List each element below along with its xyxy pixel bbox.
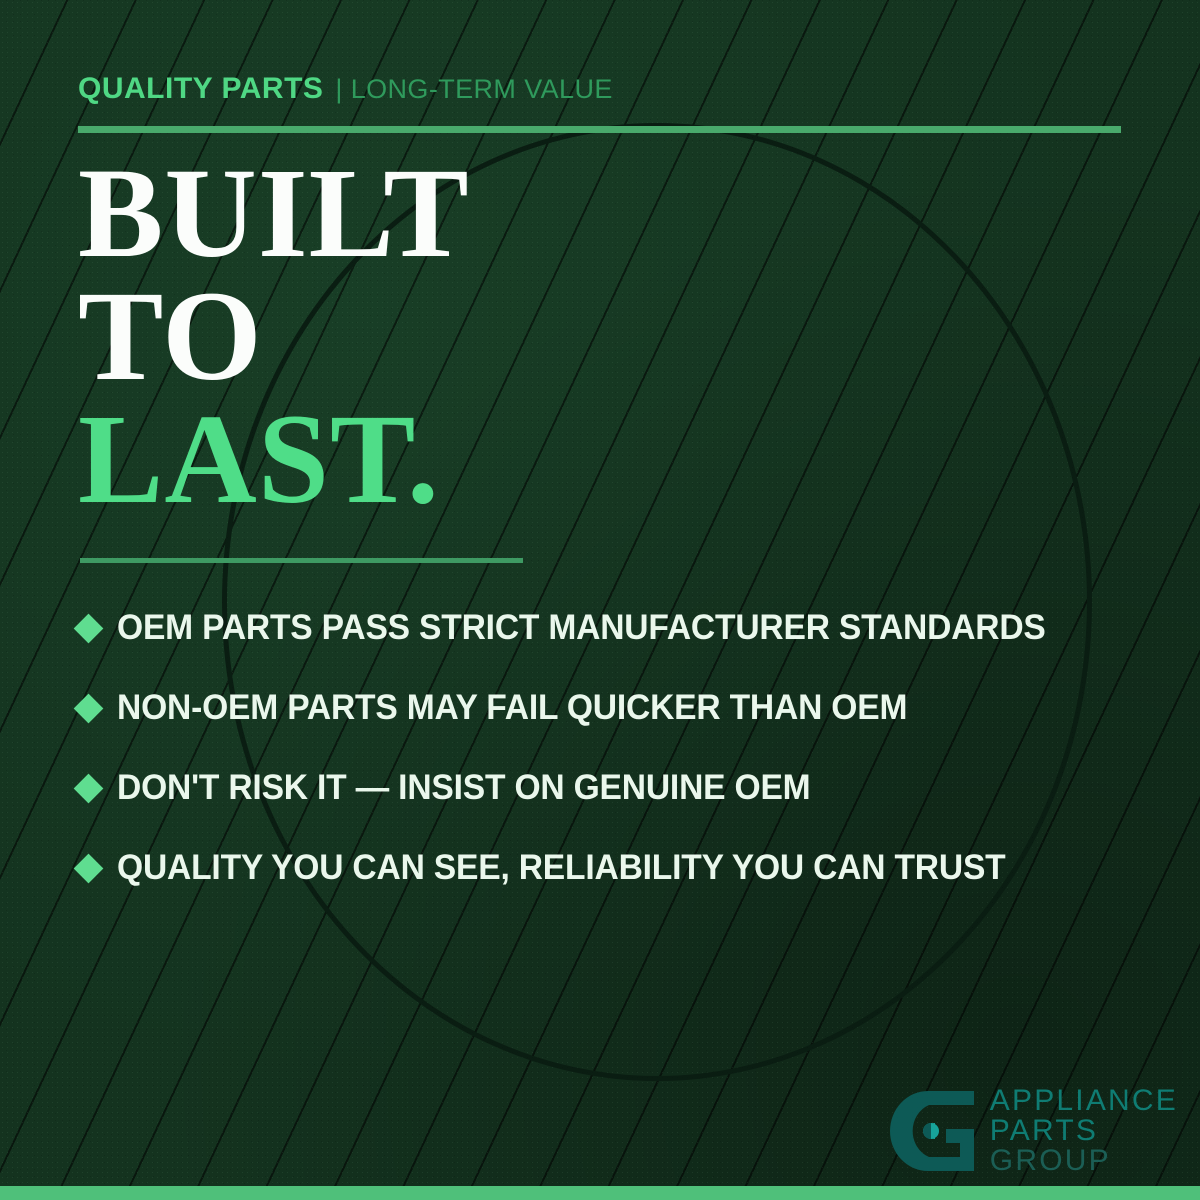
brand-logo: APPLIANCE PARTS GROUP xyxy=(888,1086,1178,1176)
header-divider-rule xyxy=(78,126,1121,133)
diamond-icon xyxy=(74,613,104,643)
list-item: QUALITY YOU CAN SEE, RELIABILITY YOU CAN… xyxy=(78,828,1148,908)
diamond-icon xyxy=(74,853,104,883)
brand-word-line-1: APPLIANCE xyxy=(990,1086,1178,1116)
list-item: DON'T RISK IT — INSIST ON GENUINE OEM xyxy=(78,748,1148,828)
eyebrow-header: QUALITY PARTS | LONG-TERM VALUE xyxy=(78,72,613,106)
letter-g-logomark-icon xyxy=(888,1089,976,1173)
list-item-label: QUALITY YOU CAN SEE, RELIABILITY YOU CAN… xyxy=(117,848,1006,888)
list-item-label: OEM PARTS PASS STRICT MANUFACTURER STAND… xyxy=(117,608,1046,648)
brand-wordmark: APPLIANCE PARTS GROUP xyxy=(990,1086,1178,1176)
list-item: OEM PARTS PASS STRICT MANUFACTURER STAND… xyxy=(78,588,1148,668)
bottom-accent-bar xyxy=(0,1186,1200,1200)
headline-divider-rule xyxy=(80,558,523,563)
bullet-list: OEM PARTS PASS STRICT MANUFACTURER STAND… xyxy=(78,588,1148,908)
poster-canvas: QUALITY PARTS | LONG-TERM VALUE BUILT TO… xyxy=(0,0,1200,1200)
brand-word-line-2: PARTS xyxy=(990,1116,1178,1146)
list-item: NON-OEM PARTS MAY FAIL QUICKER THAN OEM xyxy=(78,668,1148,748)
headline-block: BUILT TO LAST. xyxy=(78,152,470,521)
eyebrow-strong-text: QUALITY PARTS xyxy=(78,72,323,106)
list-item-label: NON-OEM PARTS MAY FAIL QUICKER THAN OEM xyxy=(117,688,907,728)
list-item-label: DON'T RISK IT — INSIST ON GENUINE OEM xyxy=(117,768,810,808)
headline-line-2: TO xyxy=(78,275,470,398)
headline-line-1: BUILT xyxy=(78,152,470,275)
headline-line-3: LAST. xyxy=(78,398,470,521)
diamond-icon xyxy=(74,693,104,723)
diamond-icon xyxy=(74,773,104,803)
brand-word-line-3: GROUP xyxy=(990,1146,1178,1176)
eyebrow-light-text: | LONG-TERM VALUE xyxy=(335,74,612,105)
